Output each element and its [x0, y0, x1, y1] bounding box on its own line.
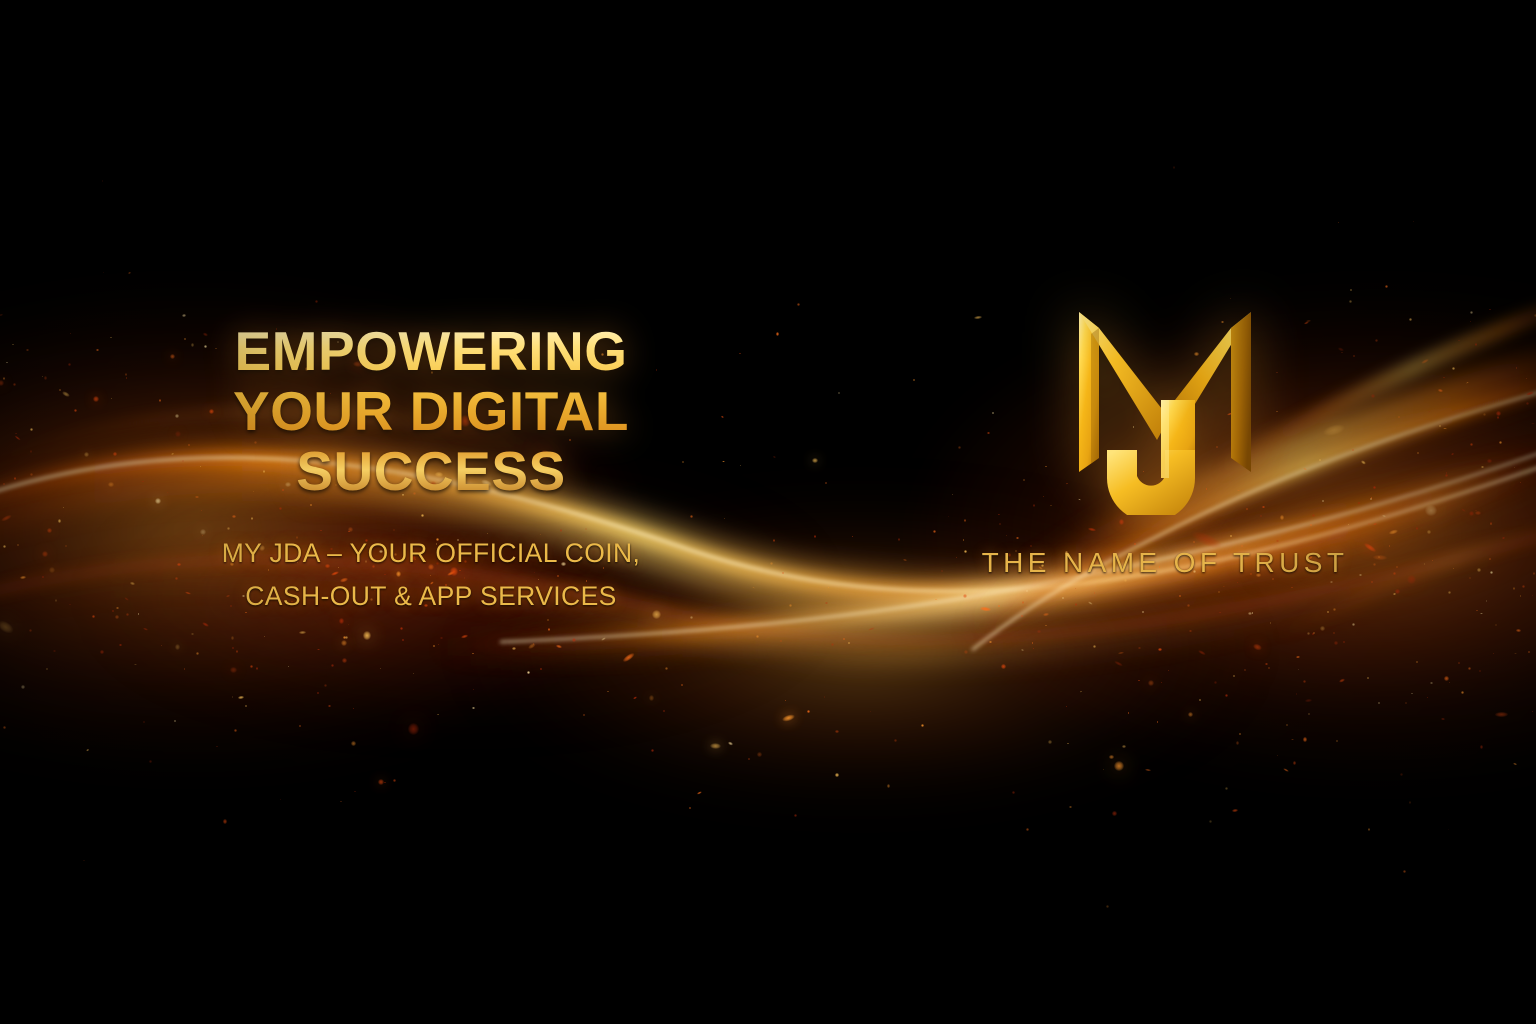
ember-particle [1469, 577, 1471, 579]
ember-particle [1489, 558, 1491, 560]
ember-particle [748, 758, 750, 760]
ember-particle [1075, 588, 1076, 589]
ember-particle [13, 383, 16, 386]
ember-particle [935, 599, 936, 600]
ember-particle [299, 725, 301, 727]
ember-particle [807, 710, 810, 713]
ember-particle [1468, 667, 1471, 670]
ember-particle [461, 634, 468, 638]
ember-particle [134, 664, 137, 665]
ember-particle [59, 389, 61, 391]
ember-particle [1087, 601, 1092, 605]
ember-particle [63, 507, 64, 508]
ember-particle [402, 639, 403, 640]
ember-particle [143, 627, 148, 631]
subheadline: MY JDA – YOUR OFFICIAL COIN, CASH-OUT & … [126, 532, 736, 618]
ember-particle [547, 619, 549, 621]
ember-particle [533, 643, 535, 645]
ember-particle [1199, 699, 1201, 701]
ember-particle [231, 636, 234, 639]
ember-particle [651, 749, 654, 752]
ember-particle [108, 482, 114, 488]
ember-particle [1449, 682, 1450, 683]
ember-particle [1312, 633, 1314, 635]
ember-particle [3, 726, 6, 729]
ember-particle [317, 649, 321, 651]
ember-particle [175, 644, 181, 650]
ember-particle [49, 567, 55, 573]
ember-particle [756, 635, 759, 638]
ember-particle [1032, 642, 1034, 644]
ember-particle [1409, 801, 1412, 804]
ember-particle [413, 673, 414, 674]
ember-particle [1458, 662, 1460, 664]
ember-particle [812, 458, 818, 464]
ember-particle [324, 684, 327, 687]
ember-particle [1378, 702, 1380, 704]
ember-particle [1407, 575, 1417, 585]
ember-particle [1062, 597, 1064, 599]
ember-particle [1138, 647, 1140, 649]
ember-particle [964, 650, 968, 654]
ember-particle [70, 333, 71, 334]
ember-particle [230, 667, 237, 674]
ember-particle [55, 599, 57, 601]
ember-particle [1080, 690, 1083, 693]
ember-particle [1189, 630, 1192, 633]
ember-particle [100, 650, 104, 654]
ember-particle [384, 782, 385, 783]
ember-particle [1118, 652, 1124, 655]
ember-particle [1393, 593, 1396, 595]
ember-particle [1405, 702, 1407, 704]
ember-particle [256, 667, 258, 669]
ember-particle [1479, 670, 1481, 672]
ember-particle [12, 343, 14, 344]
ember-particle [1512, 762, 1517, 766]
ember-particle [1307, 632, 1310, 635]
ember-particle [0, 619, 15, 637]
ember-particle [1022, 601, 1025, 604]
ember-particle [1157, 721, 1158, 722]
ember-particle [216, 746, 218, 748]
ember-particle [843, 638, 846, 641]
ember-particle [1296, 656, 1301, 658]
ember-particle [1033, 648, 1034, 649]
ember-particle [1209, 820, 1212, 823]
ember-particle [1526, 402, 1529, 405]
ember-particle [1483, 413, 1486, 416]
ember-particle [1445, 474, 1448, 477]
ember-particle [1001, 664, 1006, 669]
ember-particle [681, 684, 683, 686]
ember-particle [68, 363, 70, 365]
ember-particle [29, 629, 32, 632]
ember-particle [21, 685, 25, 689]
ember-particle [102, 180, 104, 182]
ember-particle [1495, 712, 1508, 717]
ember-particle [887, 784, 891, 788]
ember-particle [113, 452, 117, 456]
ember-particle [1411, 693, 1412, 694]
ember-particle [998, 605, 1000, 607]
ember-particle [1432, 560, 1433, 561]
ember-particle [1109, 755, 1114, 760]
ember-particle [47, 528, 52, 533]
ember-particle [74, 409, 77, 412]
ember-particle [472, 707, 474, 709]
ember-particle [1520, 595, 1522, 597]
ember-particle [437, 714, 440, 716]
ember-particle [1444, 676, 1449, 681]
ember-particle [1037, 630, 1040, 633]
ember-particle [852, 536, 853, 537]
ember-particle [440, 637, 442, 639]
ember-particle [1093, 645, 1096, 648]
ember-particle [1502, 536, 1505, 538]
ember-particle [1225, 694, 1228, 697]
ember-particle [1526, 378, 1527, 379]
ember-particle [317, 692, 319, 694]
ember-particle [42, 376, 43, 377]
ember-particle [622, 652, 635, 663]
ember-particle [1138, 680, 1139, 681]
ember-particle [331, 664, 333, 666]
ember-particle [1424, 563, 1425, 564]
ember-particle [835, 730, 839, 733]
ember-particle [1368, 828, 1371, 831]
ember-particle [351, 741, 356, 746]
ember-particle [1106, 905, 1109, 908]
ember-particle [1320, 626, 1325, 631]
ember-particle [1522, 585, 1526, 589]
ember-particle [1425, 505, 1436, 516]
ember-particle [1334, 641, 1339, 646]
ember-particle [438, 644, 439, 645]
ember-particle [1466, 382, 1470, 385]
ember-particle [1336, 740, 1338, 742]
ember-particle [472, 653, 474, 655]
ember-particle [814, 535, 816, 537]
ember-particle [15, 432, 18, 434]
ember-particle [1470, 321, 1471, 322]
ember-particle [1286, 724, 1288, 726]
ember-particle [58, 519, 61, 522]
ember-particle [1187, 604, 1190, 607]
ember-particle [65, 545, 67, 547]
ember-particle [1026, 828, 1029, 831]
ember-particle [1048, 740, 1053, 745]
ember-particle [1395, 589, 1400, 594]
ember-particle [1476, 610, 1477, 611]
ember-particle [1427, 530, 1431, 534]
ember-particle [1458, 340, 1459, 341]
ember-particle [797, 303, 800, 306]
headline-block: EMPOWERING YOUR DIGITAL SUCCESS MY JDA –… [126, 322, 736, 618]
headline-line-1: EMPOWERING [126, 322, 736, 382]
ember-particle [1461, 508, 1466, 512]
ember-particle [583, 714, 585, 716]
ember-particle [1148, 680, 1154, 686]
ember-particle [1233, 675, 1235, 677]
ember-particle [339, 618, 345, 624]
ember-particle [1461, 691, 1464, 694]
ember-particle [1124, 579, 1127, 582]
ember-particle [92, 615, 95, 618]
ember-particle [1277, 755, 1278, 756]
ember-particle [6, 362, 8, 364]
ember-particle [19, 575, 25, 578]
ember-particle [1219, 612, 1221, 614]
ember-particle [689, 807, 691, 809]
ember-particle [1533, 572, 1536, 575]
ember-particle [913, 379, 915, 381]
ember-particle [825, 602, 828, 605]
ember-particle [848, 642, 850, 644]
ember-particle [751, 587, 754, 589]
ember-particle [264, 636, 266, 638]
ember-particle [770, 562, 773, 565]
ember-particle [1490, 571, 1493, 574]
ember-particle [1308, 713, 1310, 715]
ember-particle [1237, 582, 1239, 584]
ember-particle [1496, 411, 1501, 416]
ember-particle [1214, 681, 1217, 684]
ember-particle [245, 705, 247, 707]
ember-particle [512, 646, 516, 649]
ember-particle [408, 723, 419, 734]
ember-particle [773, 456, 776, 459]
headline-line-3: SUCCESS [126, 442, 736, 502]
ember-particle [1448, 829, 1450, 831]
ember-particle [1487, 459, 1492, 464]
ember-particle [1026, 590, 1028, 592]
ember-particle [1514, 653, 1517, 655]
brand-block: THE NAME OF TRUST [930, 300, 1400, 579]
ember-particle [1438, 388, 1443, 392]
ember-particle [0, 313, 3, 315]
ember-particle [1490, 523, 1492, 525]
ember-particle [1144, 769, 1150, 772]
ember-particle [1475, 510, 1477, 512]
ember-particle [1094, 592, 1096, 594]
ember-particle [1303, 680, 1306, 683]
ember-particle [1333, 632, 1335, 634]
ember-particle [980, 606, 991, 611]
ember-particle [785, 700, 786, 701]
ember-particle [780, 640, 782, 642]
ember-particle [1427, 697, 1428, 698]
ember-particle [288, 666, 289, 667]
ember-particle [1223, 585, 1225, 587]
ember-particle [1416, 527, 1418, 529]
ember-particle [1443, 377, 1444, 378]
ember-particle [540, 668, 542, 670]
ember-particle [1493, 653, 1494, 654]
headline-line-2: YOUR DIGITAL [126, 382, 736, 442]
ember-particle [53, 650, 55, 652]
ember-particle [348, 624, 349, 625]
ember-particle [1158, 648, 1161, 651]
ember-particle [1441, 718, 1445, 721]
ember-particle [1495, 624, 1497, 626]
ember-particle [1420, 359, 1428, 365]
ember-particle [1067, 743, 1068, 744]
ember-particle [601, 637, 606, 641]
ember-particle [710, 743, 721, 749]
ember-particle [1516, 367, 1518, 369]
ember-particle [1244, 669, 1246, 671]
ember-particle [42, 576, 44, 578]
ember-particle [238, 695, 244, 699]
ember-particle [1333, 608, 1336, 611]
ember-particle [1469, 511, 1474, 516]
ember-particle [776, 332, 780, 336]
ember-particle [1400, 773, 1403, 776]
ember-particle [1198, 649, 1206, 655]
ember-particle [921, 724, 924, 727]
ember-particle [378, 779, 384, 785]
ember-particle [1236, 741, 1239, 744]
ember-particle [149, 760, 152, 763]
ember-particle [342, 658, 347, 663]
ember-particle [161, 645, 162, 646]
ember-particle [963, 594, 967, 598]
ember-particle [110, 337, 112, 339]
ember-particle [14, 477, 16, 479]
ember-particle [1268, 667, 1270, 669]
ember-particle [1516, 629, 1521, 632]
ember-particle [112, 610, 114, 612]
ember-particle [1486, 600, 1488, 602]
ember-particle [3, 483, 5, 485]
ember-particle [1303, 737, 1307, 741]
ember-particle [1490, 522, 1492, 524]
ember-particle [867, 627, 874, 631]
ember-particle [143, 721, 145, 723]
ember-particle [835, 773, 838, 776]
ember-particle [1417, 452, 1419, 454]
ember-particle [727, 741, 733, 746]
ember-particle [1520, 482, 1522, 484]
ember-particle [1371, 581, 1373, 583]
ember-particle [473, 689, 474, 690]
ember-particle [1173, 166, 1175, 168]
ember-particle [1045, 625, 1046, 626]
ember-particle [825, 482, 827, 484]
ember-particle [1514, 467, 1515, 468]
ember-particle [3, 545, 6, 548]
ember-particle [1270, 622, 1272, 624]
mj-monogram-logo [1065, 300, 1265, 515]
ember-particle [665, 667, 668, 670]
ember-particle [633, 696, 637, 699]
ember-particle [17, 544, 19, 546]
ember-particle [1291, 739, 1295, 741]
ember-particle [223, 819, 227, 823]
ember-particle [1232, 809, 1238, 813]
ember-particle [757, 752, 762, 757]
ember-particle [649, 695, 655, 701]
ember-particle [1252, 612, 1254, 614]
ember-particle [353, 708, 354, 709]
ember-particle [234, 729, 237, 732]
ember-particle [607, 691, 608, 692]
ember-particle [1350, 289, 1352, 291]
ember-particle [1188, 712, 1193, 717]
ember-particle [328, 705, 330, 707]
ember-particle [1475, 511, 1481, 515]
ember-particle [1480, 745, 1483, 748]
ember-particle [1330, 581, 1334, 584]
ember-particle [1367, 677, 1369, 679]
ember-particle [789, 604, 792, 607]
ember-particle [1103, 769, 1104, 770]
ember-particle [1296, 693, 1297, 694]
ember-particle [69, 604, 71, 606]
ember-particle [1012, 791, 1015, 794]
ember-particle [202, 622, 210, 628]
ember-particle [315, 300, 318, 303]
ember-particle [1021, 615, 1023, 617]
ember-particle [1069, 806, 1071, 808]
ember-particle [30, 428, 33, 431]
ember-particle [1225, 787, 1228, 790]
ember-particle [1113, 660, 1122, 667]
ember-particle [280, 799, 281, 800]
ember-particle [1477, 568, 1481, 572]
ember-particle [1497, 416, 1500, 419]
ember-particle [1298, 669, 1299, 670]
ember-particle [433, 645, 435, 647]
ember-particle [1112, 811, 1116, 815]
ember-particle [1252, 642, 1262, 651]
ember-particle [1453, 568, 1454, 569]
ember-particle [1239, 733, 1241, 735]
ember-particle [870, 711, 871, 712]
ember-particle [1265, 663, 1268, 666]
page-title: EMPOWERING YOUR DIGITAL SUCCESS [126, 322, 736, 502]
ember-particle [354, 791, 356, 793]
ember-particle [116, 607, 118, 609]
ember-particle [0, 380, 4, 385]
ember-particle [400, 627, 403, 630]
ember-particle [1499, 441, 1502, 444]
ember-particle [44, 376, 48, 380]
ember-particle [1409, 318, 1412, 321]
ember-particle [343, 636, 346, 639]
ember-particle [111, 398, 112, 399]
ember-particle [30, 450, 32, 452]
ember-particle [84, 452, 89, 457]
subheadline-line-1: MY JDA – YOUR OFFICIAL COIN, [126, 532, 736, 575]
ember-particle [1528, 651, 1530, 653]
brand-tagline: THE NAME OF TRUST [930, 547, 1400, 579]
ember-particle [1448, 591, 1451, 594]
ember-particle [1283, 768, 1289, 773]
ember-particle [1248, 612, 1251, 615]
ember-particle [1532, 595, 1533, 596]
ember-particle [1293, 761, 1296, 764]
ember-particle [61, 391, 69, 398]
ember-particle [1075, 603, 1078, 606]
ember-particle [989, 641, 991, 643]
ember-particle [1480, 613, 1483, 614]
ember-particle [26, 349, 28, 351]
ember-particle [181, 314, 185, 317]
ember-particle [1305, 699, 1313, 703]
ember-particle [96, 349, 99, 352]
